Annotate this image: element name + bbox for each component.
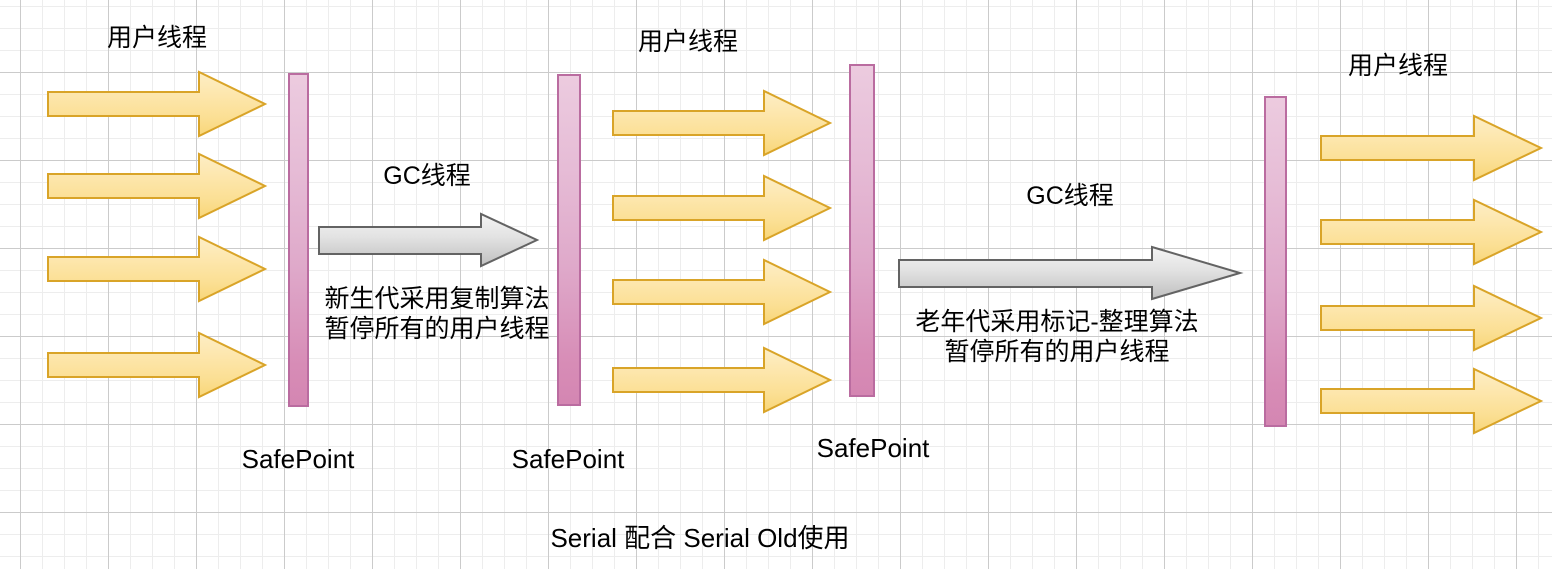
user-thread-arrow [47,332,266,398]
user-thread-arrow [1320,368,1542,434]
gc-note-label: 老年代采用标记-整理算法 暂停所有的用户线程 [915,308,1198,367]
safepoint-bar-1 [288,73,309,407]
gc-note-label: 新生代采用复制算法 暂停所有的用户线程 [324,285,549,344]
safepoint-bar-2 [557,74,581,406]
safepoint-label: SafePoint [512,444,625,475]
safepoint-label: SafePoint [242,444,355,475]
user-thread-arrow [47,153,266,219]
user-thread-arrow [1320,199,1542,265]
user-thread-label: 用户线程 [1348,52,1448,82]
user-thread-label: 用户线程 [638,28,738,58]
user-thread-arrow [47,236,266,302]
safepoint-bar-3 [849,64,875,397]
gc-arrow-old [898,246,1241,300]
safepoint-bar-4 [1264,96,1287,427]
user-thread-label: 用户线程 [107,24,207,54]
user-thread-arrow [612,347,831,413]
diagram-caption: Serial 配合 Serial Old使用 [550,523,849,554]
user-thread-arrow [47,71,266,137]
user-thread-arrow [612,90,831,156]
user-thread-arrow [1320,115,1542,181]
gc-arrow-young [318,213,538,267]
gc-thread-label: GC线程 [383,162,471,192]
user-thread-arrow [612,259,831,325]
gc-thread-label: GC线程 [1026,182,1114,212]
safepoint-label: SafePoint [817,433,930,464]
diagram-canvas: 用户线程用户线程用户线程SafePointSafePointSafePointG… [0,0,1552,569]
user-thread-arrow [1320,285,1542,351]
user-thread-arrow [612,175,831,241]
